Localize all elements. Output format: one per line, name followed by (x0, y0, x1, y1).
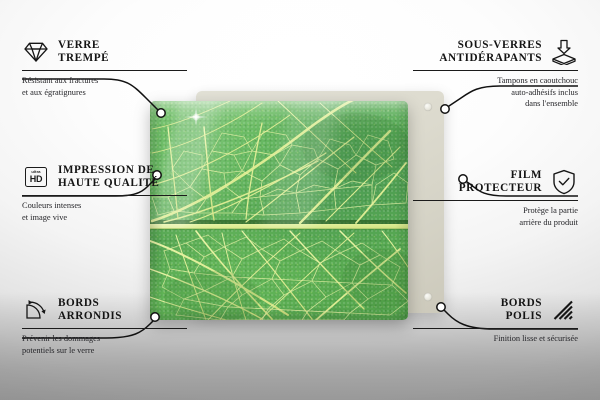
feature-title: BORDS ARRONDIS (58, 297, 122, 324)
leaf-vein-network (150, 101, 408, 320)
ultra-hd-badge-icon: ultra HD (22, 163, 50, 191)
anti-slip-pad-icon (550, 38, 578, 66)
feature-description: Prévenir les dommages potentiels sur le … (22, 333, 187, 355)
feature-divider (413, 200, 578, 201)
feature-bords-arrondis: BORDS ARRONDIS Prévenir les dommages pot… (22, 296, 187, 356)
feature-divider (22, 328, 187, 329)
feature-description: Finition lisse et sécurisée (413, 333, 578, 344)
diamond-icon (22, 38, 50, 66)
feature-description: Protège la partie arrière du produit (413, 205, 578, 227)
leaf-print-artwork (150, 101, 408, 320)
feature-title: FILM PROTECTEUR (459, 169, 542, 196)
product-image (150, 80, 450, 332)
feature-description: Tampons en caoutchouc auto-adhésifs incl… (413, 75, 578, 109)
feature-title: BORDS POLIS (501, 297, 542, 324)
rounded-corner-icon (22, 296, 50, 324)
feature-impression-haute-qualite: ultra HD IMPRESSION DE HAUTE QUALITÉ Cou… (22, 163, 187, 223)
feature-divider (22, 195, 187, 196)
feature-title: IMPRESSION DE HAUTE QUALITÉ (58, 164, 159, 191)
feature-title: SOUS-VERRES ANTIDÉRAPANTS (439, 39, 542, 66)
infographic-canvas: VERRE TREMPÉ Résistant aux fractures et … (0, 0, 600, 400)
feature-sous-verres-antiderapants: SOUS-VERRES ANTIDÉRAPANTS Tampons en cao… (413, 38, 578, 109)
feature-bords-polis: BORDS POLIS Finition lisse et sécurisée (413, 296, 578, 345)
diagonal-stripes-icon (550, 296, 578, 324)
feature-film-protecteur: FILM PROTECTEUR Protège la partie arrièr… (413, 168, 578, 228)
feature-description: Résistant aux fractures et aux égratignu… (22, 75, 187, 97)
feature-divider (413, 328, 578, 329)
shield-check-icon (550, 168, 578, 196)
feature-divider (22, 70, 187, 71)
feature-verre-trempe: VERRE TREMPÉ Résistant aux fractures et … (22, 38, 187, 98)
ultra-hd-badge-large-text: HD (30, 175, 43, 184)
feature-divider (413, 70, 578, 71)
feature-description: Couleurs intenses et image vive (22, 200, 187, 222)
glass-board-face (150, 101, 408, 320)
feature-title: VERRE TREMPÉ (58, 39, 109, 66)
